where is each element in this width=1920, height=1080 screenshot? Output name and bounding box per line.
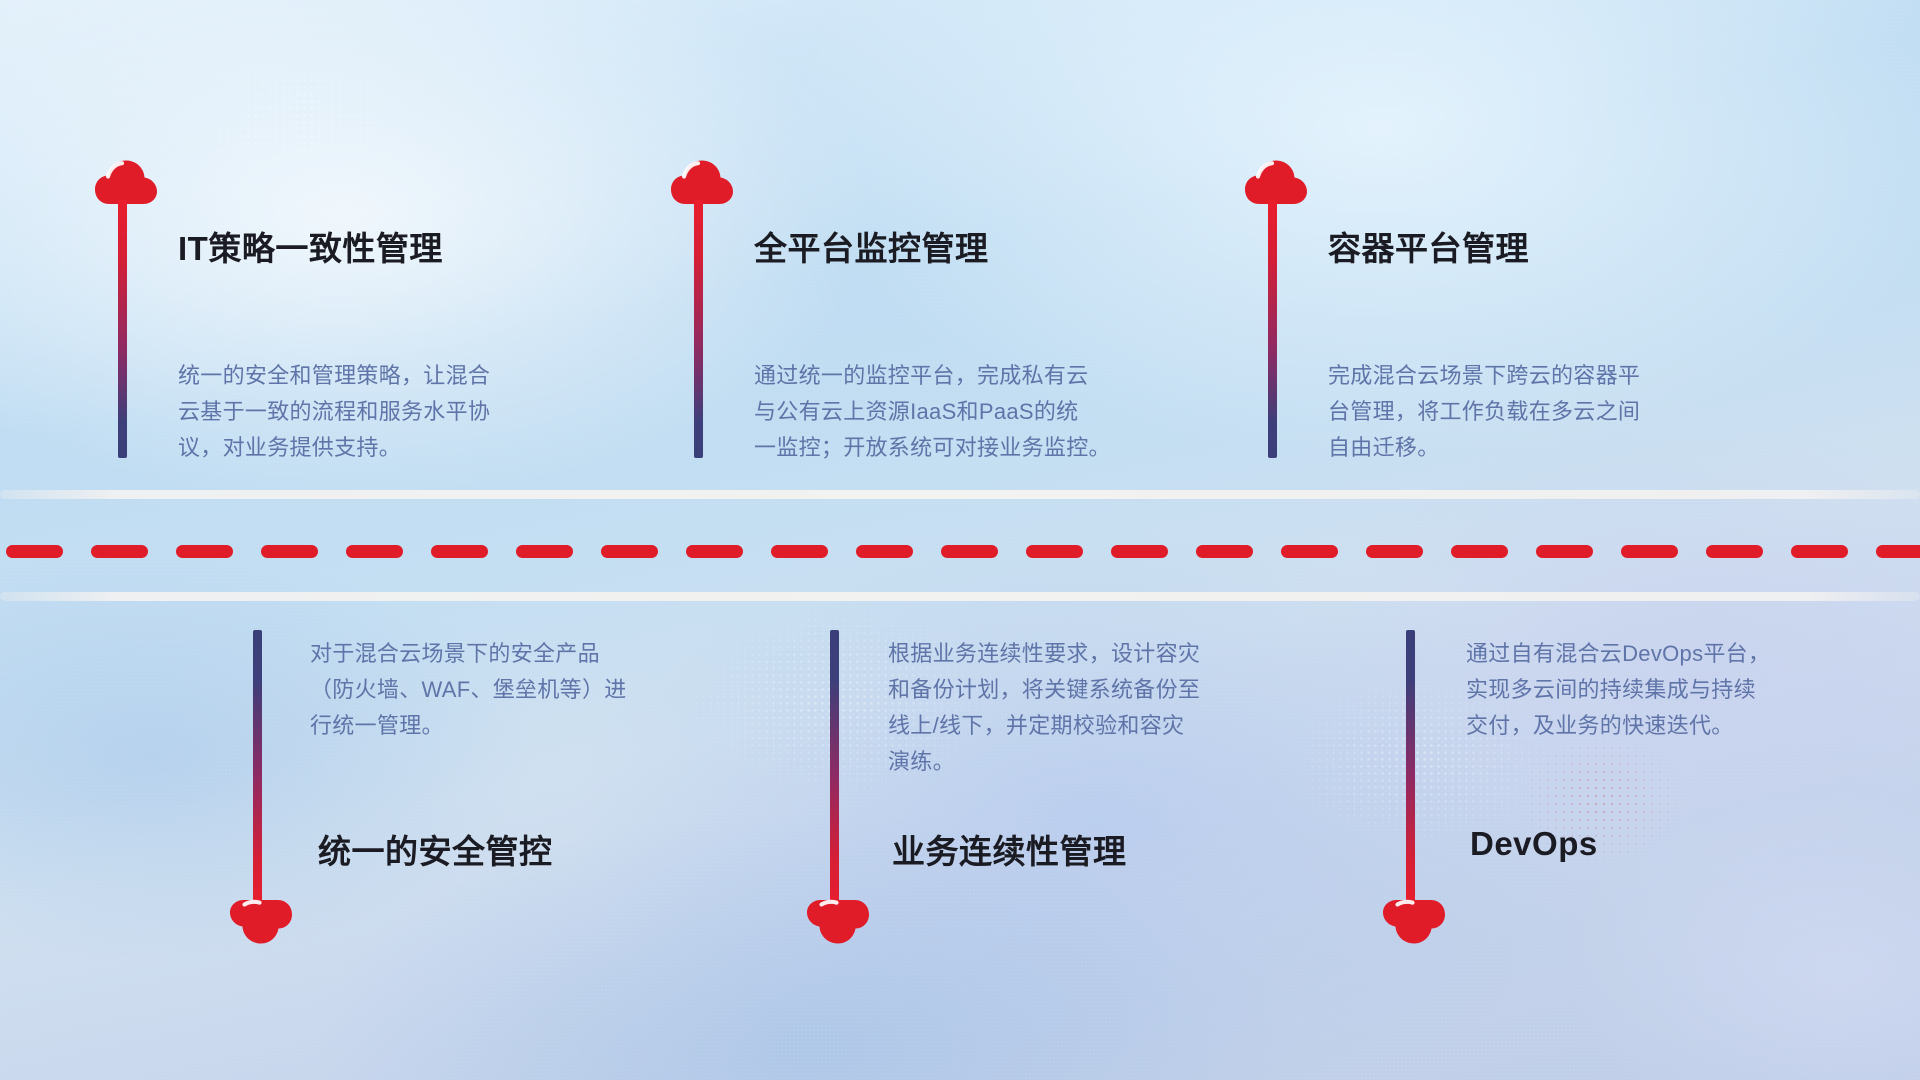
divider-dash-segment: [6, 545, 63, 558]
connector-line: [118, 200, 127, 458]
divider-dashed-line: [0, 545, 1920, 558]
card-heading: DevOps: [1470, 825, 1598, 863]
divider-dash-segment: [1791, 545, 1848, 558]
divider-dash-segment: [1111, 545, 1168, 558]
connector-line: [694, 200, 703, 458]
cloud-icon: [1383, 898, 1445, 944]
divider-bar-lower: [0, 592, 1920, 601]
divider-dash-segment: [601, 545, 658, 558]
divider-dash-segment: [771, 545, 828, 558]
card-body-text: 通过自有混合云DevOps平台， 实现多云间的持续集成与持续 交付，及业务的快速…: [1466, 636, 1896, 744]
divider-dash-segment: [941, 545, 998, 558]
divider-dash-segment: [176, 545, 233, 558]
connector-line: [1268, 200, 1277, 458]
card-body-text: 统一的安全和管理策略，让混合 云基于一致的流程和服务水平协 议，对业务提供支持。: [178, 358, 618, 466]
divider-dash-segment: [346, 545, 403, 558]
divider-dash-segment: [1196, 545, 1253, 558]
cloud-icon: [807, 898, 869, 944]
divider-dash-segment: [1281, 545, 1338, 558]
divider-bar-upper: [0, 490, 1920, 499]
divider-dash-segment: [261, 545, 318, 558]
divider-dash-segment: [856, 545, 913, 558]
infographic-stage: IT策略一致性管理 统一的安全和管理策略，让混合 云基于一致的流程和服务水平协 …: [0, 0, 1920, 1080]
connector-line: [1406, 630, 1415, 910]
card-body-text: 通过统一的监控平台，完成私有云 与公有云上资源IaaS和PaaS的统 一监控；开…: [754, 358, 1214, 466]
card-heading: 业务连续性管理: [892, 825, 1127, 873]
divider-dash-segment: [1536, 545, 1593, 558]
divider-dash-segment: [516, 545, 573, 558]
divider-dash-segment: [1026, 545, 1083, 558]
card-body-text: 对于混合云场景下的安全产品 （防火墙、WAF、堡垒机等）进 行统一管理。: [310, 636, 740, 744]
card-body-text: 完成混合云场景下跨云的容器平 台管理，将工作负载在多云之间 自由迁移。: [1328, 358, 1768, 466]
divider-dash-segment: [91, 545, 148, 558]
connector-line: [830, 630, 839, 910]
card-body-text: 根据业务连续性要求，设计容灾 和备份计划，将关键系统备份至 线上/线下，并定期校…: [888, 636, 1318, 780]
cloud-icon: [95, 160, 157, 206]
cloud-icon: [671, 160, 733, 206]
card-heading: 容器平台管理: [1328, 222, 1529, 270]
divider-dash-segment: [1706, 545, 1763, 558]
card-heading: IT策略一致性管理: [178, 222, 443, 270]
divider-dash-segment: [431, 545, 488, 558]
divider-dash-segment: [1451, 545, 1508, 558]
card-heading: 统一的安全管控: [318, 825, 553, 873]
connector-line: [253, 630, 262, 910]
divider-dash-segment: [1876, 545, 1920, 558]
divider-dash-segment: [1621, 545, 1678, 558]
cloud-icon: [1245, 160, 1307, 206]
cloud-icon: [230, 898, 292, 944]
divider-dash-segment: [1366, 545, 1423, 558]
divider-dash-segment: [686, 545, 743, 558]
card-heading: 全平台监控管理: [754, 222, 989, 270]
